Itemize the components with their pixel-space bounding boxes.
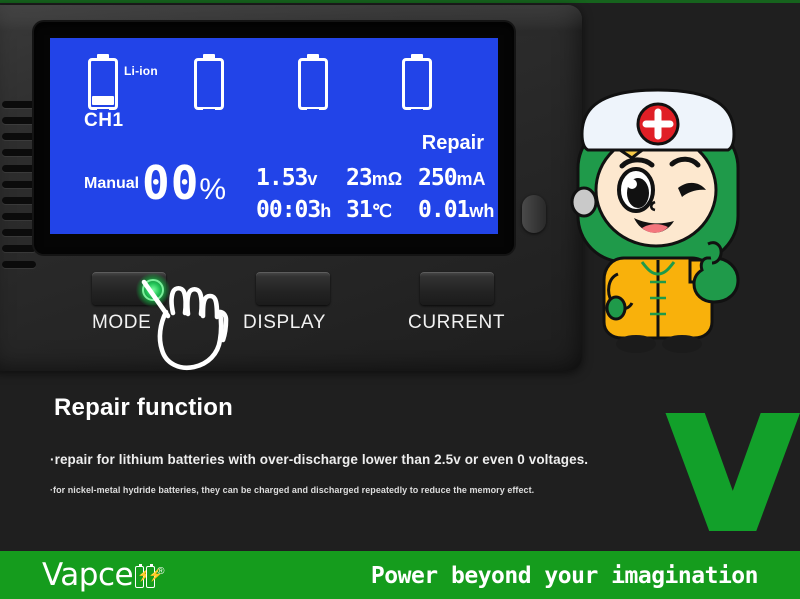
brand-logo: Vapce ⚡ ⚡ ® [42, 557, 164, 591]
screenshot-stage: V [0, 0, 800, 599]
top-green-rule [0, 0, 800, 3]
resistance-temp-column: 23mΩ 31℃ [346, 162, 402, 226]
vent-slot [2, 229, 36, 236]
page-title: Repair function [54, 394, 233, 422]
vent-slot [2, 197, 36, 204]
current-readout: 250mA [418, 162, 494, 194]
display-button[interactable] [256, 272, 330, 305]
resistance-value: 23 [346, 165, 372, 191]
battery-icon [298, 54, 328, 110]
current-button[interactable] [420, 272, 494, 305]
lightning-bolt-icon: ⚡ [135, 566, 144, 588]
percent-readout: 00% [142, 160, 227, 213]
bullet-line-2: ·for nickel-metal hydride batteries, the… [50, 485, 534, 495]
lcd-screen: Li-ion CH1 Repair Manual 00% 1.53v 00:03… [50, 38, 498, 234]
temperature-value: 31 [346, 197, 372, 223]
temperature-readout: 31℃ [346, 194, 402, 226]
mode-label: Manual [84, 175, 139, 193]
percent-unit: % [199, 173, 227, 206]
resistance-readout: 23mΩ [346, 162, 402, 194]
channel-label: CH1 [84, 110, 124, 132]
vent-slot [2, 181, 36, 188]
brand-v-watermark: V [596, 413, 800, 543]
resistance-unit: mΩ [372, 169, 402, 189]
battery-icon [402, 54, 432, 110]
energy-unit: wh [469, 201, 494, 221]
battery-icon [88, 54, 118, 110]
vent-slot [2, 261, 36, 268]
time-unit: h [320, 201, 331, 221]
battery-icon [194, 54, 224, 110]
hand-cursor-icon [126, 268, 234, 372]
energy-value: 0.01 [418, 197, 469, 223]
vent-slot [2, 101, 36, 108]
chemistry-label: Li-ion [124, 64, 158, 78]
energy-readout: 0.01wh [418, 194, 494, 226]
display-button-label: DISPLAY [243, 312, 326, 334]
voltage-value: 1.53 [256, 165, 307, 191]
voltage-readout: 1.53v [256, 162, 331, 194]
voltage-time-column: 1.53v 00:03h [256, 162, 331, 226]
current-button-label: CURRENT [408, 312, 505, 334]
vent-slot [2, 165, 36, 172]
lightning-bolt-icon: ⚡ [146, 566, 155, 588]
current-value: 250 [418, 165, 457, 191]
function-label: Repair [422, 132, 484, 155]
battery-slot-row [50, 38, 498, 110]
vent-slot [2, 213, 36, 220]
vent-slot [2, 149, 36, 156]
voltage-unit: v [307, 169, 317, 189]
v-watermark-letter: V [596, 413, 800, 543]
footer-bar: Vapce ⚡ ⚡ ® Power beyond your imaginatio… [0, 551, 800, 599]
vent-slot-group [2, 101, 36, 277]
percent-value: 00 [142, 156, 199, 210]
vent-slot [2, 245, 36, 252]
current-energy-column: 250mA 0.01wh [418, 162, 494, 226]
doctor-mascot-icon [538, 62, 778, 362]
bullet-line-1: ·repair for lithium batteries with over-… [50, 452, 588, 467]
brand-tagline: Power beyond your imagination [371, 563, 758, 589]
time-value: 00:03 [256, 197, 320, 223]
vent-slot [2, 117, 36, 124]
vent-slot [2, 133, 36, 140]
logo-battery-cells: ⚡ ⚡ [135, 566, 155, 588]
time-readout: 00:03h [256, 194, 331, 226]
temperature-unit: ℃ [372, 201, 392, 221]
current-unit: mA [457, 169, 486, 189]
brand-name: Vapce [42, 560, 133, 591]
